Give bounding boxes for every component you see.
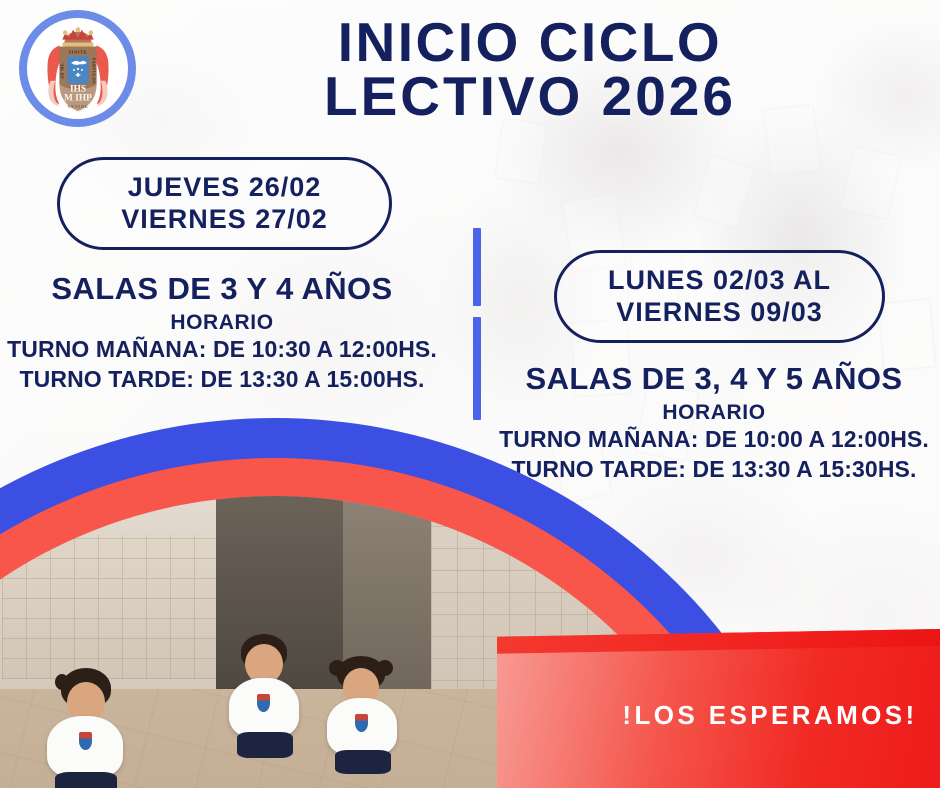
coat-of-arms-icon: IHS M IHP SINITE VENIRE AD ME PARVULOS [29,20,127,118]
svg-text:SINITE: SINITE [68,49,87,54]
left-pill-line-1: JUEVES 26/02 [128,172,322,204]
left-date-pill: JUEVES 26/02 VIERNES 27/02 [57,157,392,250]
vertical-divider-bottom [473,317,481,420]
child-figure [315,656,411,784]
title-line-2: LECTIVO 2026 [170,70,890,124]
poster-canvas: IHS M IHP SINITE VENIRE AD ME PARVULOS I… [0,0,940,788]
right-pill-line-2: VIERNES 09/03 [616,297,823,329]
right-horario-label: HORARIO [488,401,940,425]
right-date-pill: LUNES 02/03 AL VIERNES 09/03 [554,250,885,343]
scene-wall-tile [2,535,236,680]
los-esperamos-text: !LOS ESPERAMOS! [600,700,940,731]
title-line-1: INICIO CICLO [170,16,890,70]
child-figure [0,746,25,788]
school-logo: IHS M IHP SINITE VENIRE AD ME PARVULOS [19,10,136,127]
right-turno-manana: TURNO MAÑANA: DE 10:00 A 12:00HS. [488,425,940,455]
right-turno-tarde: TURNO TARDE: DE 13:30 A 15:30HS. [488,455,940,485]
left-pill-line-2: VIERNES 27/02 [121,204,328,236]
child-figure [217,634,313,764]
svg-text:AD ME: AD ME [59,62,64,78]
left-salas-label: SALAS DE 3 Y 4 AÑOS [0,272,448,306]
left-info-block: SALAS DE 3 Y 4 AÑOS HORARIO TURNO MAÑANA… [0,272,448,395]
left-turno-manana: TURNO MAÑANA: DE 10:30 A 12:00HS. [0,335,448,365]
child-figure [37,668,137,788]
left-horario-label: HORARIO [0,311,448,335]
poster-title: INICIO CICLO LECTIVO 2026 [170,16,890,124]
right-info-block: SALAS DE 3, 4 Y 5 AÑOS HORARIO TURNO MAÑ… [488,362,940,485]
right-salas-label: SALAS DE 3, 4 Y 5 AÑOS [488,362,940,396]
right-pill-line-1: LUNES 02/03 AL [608,265,831,297]
svg-text:PARVULOS: PARVULOS [91,57,96,83]
vertical-divider-top [473,228,481,306]
left-turno-tarde: TURNO TARDE: DE 13:30 A 15:00HS. [0,365,448,395]
